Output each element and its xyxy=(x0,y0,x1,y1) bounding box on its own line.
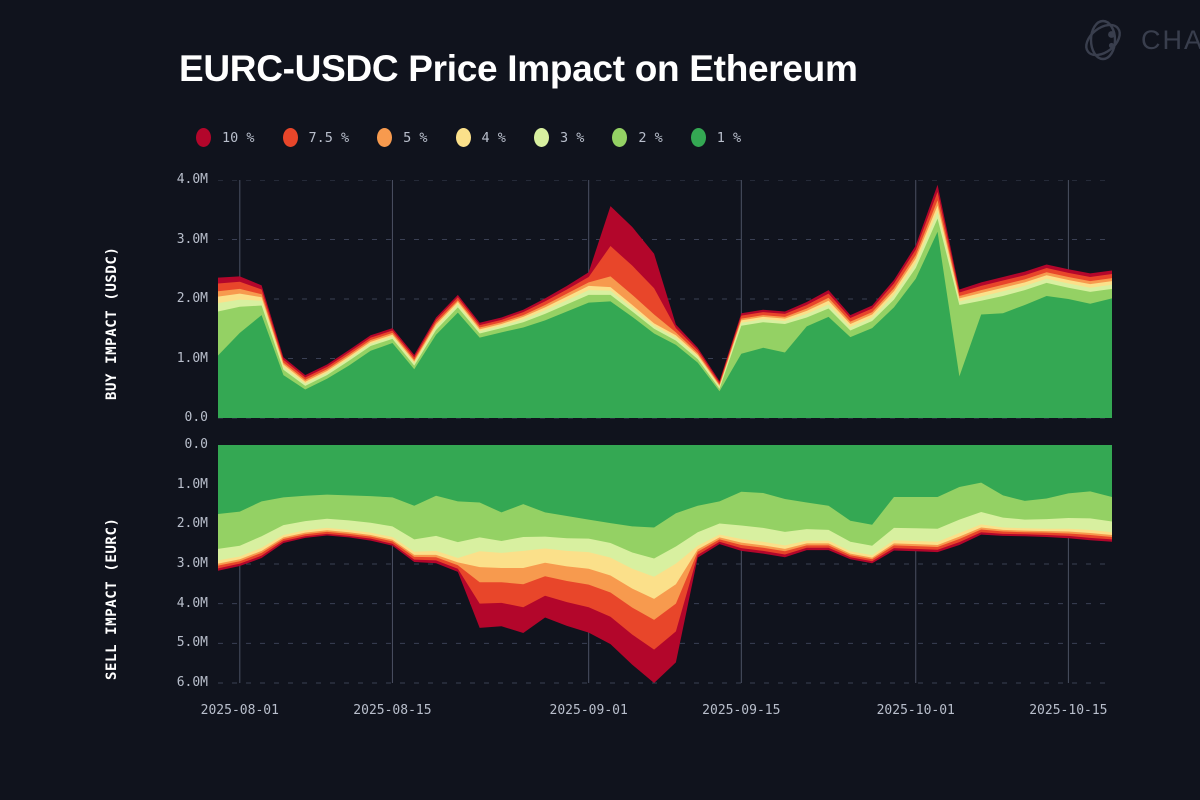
y-axis-tick-label: 4.0M xyxy=(136,172,208,187)
legend-swatch-icon xyxy=(691,128,706,147)
x-axis-tick-label: 2025-10-01 xyxy=(851,703,981,718)
legend-label: 5 % xyxy=(403,130,427,146)
legend-item[interactable]: 7.5 % xyxy=(283,128,350,147)
legend-label: 3 % xyxy=(560,130,584,146)
legend-swatch-icon xyxy=(456,128,471,147)
buy-axis-title: BUY IMPACT (USDC) xyxy=(104,247,120,401)
x-axis-tick-label: 2025-08-15 xyxy=(327,703,457,718)
legend-label: 10 % xyxy=(222,130,255,146)
y-axis-tick-label: 1.0M xyxy=(136,351,208,366)
chart-page: CHA EURC-USDC Price Impact on Ethereum 1… xyxy=(0,0,1200,800)
sell-axis-title: SELL IMPACT (EURC) xyxy=(104,517,120,680)
y-axis-tick-label: 3.0M xyxy=(136,232,208,247)
legend-label: 2 % xyxy=(638,130,662,146)
x-axis-tick-label: 2025-09-01 xyxy=(524,703,654,718)
legend-item[interactable]: 1 % xyxy=(691,128,741,147)
legend-swatch-icon xyxy=(283,128,298,147)
y-axis-tick-label: 2.0M xyxy=(136,516,208,531)
sell-impact-plot xyxy=(135,445,1135,690)
legend-item[interactable]: 10 % xyxy=(196,128,255,147)
legend-item[interactable]: 2 % xyxy=(612,128,662,147)
legend-label: 1 % xyxy=(717,130,741,146)
legend-item[interactable]: 3 % xyxy=(534,128,584,147)
watermark-text: CHA xyxy=(1141,25,1200,56)
legend-swatch-icon xyxy=(196,128,211,147)
legend-swatch-icon xyxy=(377,128,392,147)
y-axis-tick-label: 4.0M xyxy=(136,596,208,611)
chart-legend: 10 %7.5 %5 %4 %3 %2 %1 % xyxy=(196,128,769,147)
buy-impact-plot xyxy=(135,180,1135,425)
y-axis-tick-label: 0.0 xyxy=(136,437,208,452)
y-axis-tick-label: 1.0M xyxy=(136,477,208,492)
legend-item[interactable]: 4 % xyxy=(456,128,506,147)
y-axis-tick-label: 0.0 xyxy=(136,410,208,425)
y-axis-tick-label: 5.0M xyxy=(136,635,208,650)
legend-item[interactable]: 5 % xyxy=(377,128,427,147)
legend-label: 7.5 % xyxy=(309,130,350,146)
x-axis-tick-label: 2025-10-15 xyxy=(1003,703,1133,718)
legend-swatch-icon xyxy=(612,128,627,147)
chaos-labs-logo-icon xyxy=(1077,14,1129,66)
legend-label: 4 % xyxy=(482,130,506,146)
legend-swatch-icon xyxy=(534,128,549,147)
x-axis-tick-label: 2025-09-15 xyxy=(676,703,806,718)
watermark: CHA xyxy=(1077,14,1200,66)
x-axis-tick-label: 2025-08-01 xyxy=(175,703,305,718)
y-axis-tick-label: 3.0M xyxy=(136,556,208,571)
y-axis-tick-label: 2.0M xyxy=(136,291,208,306)
page-title: EURC-USDC Price Impact on Ethereum xyxy=(179,48,858,90)
y-axis-tick-label: 6.0M xyxy=(136,675,208,690)
